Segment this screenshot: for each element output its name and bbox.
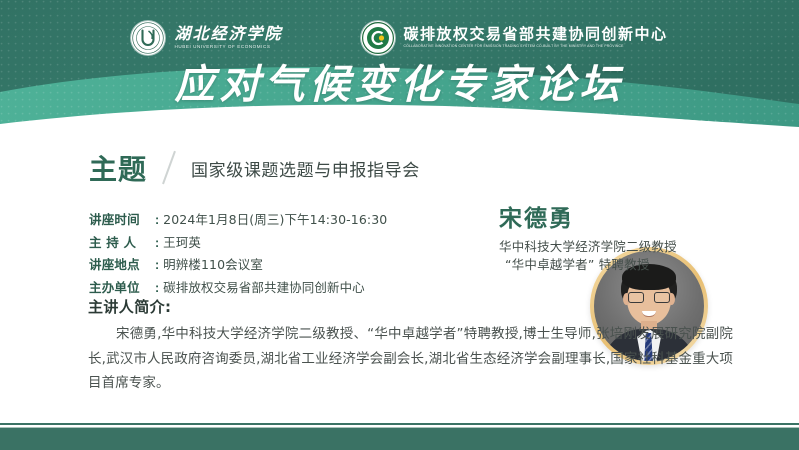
info-colon: : (155, 213, 159, 227)
info-key-time: 讲座时间 (89, 209, 155, 228)
footer-divider (0, 423, 799, 425)
poster-footer-bar (0, 428, 799, 450)
hue-logo-text: 湖北经济学院 HUBEI UNIVERSITY OF ECONOMICS (174, 26, 282, 50)
poster-body: 主题 国家级课题选题与申报指导会 讲座时间 : 2024年1月8日(周三)下午1… (0, 132, 799, 422)
cetc-logo-text: 碳排放权交易省部共建协同创新中心 COLLABORATIVE INNOVATIO… (404, 27, 668, 48)
info-row-venue: 讲座地点 : 明辨楼110会议室 (89, 254, 387, 273)
bio-text: 宋德勇,华中科技大学经济学院二级教授、“华中卓越学者”特聘教授,博士生导师,张培… (88, 322, 733, 396)
info-key-organizer: 主办单位 (89, 277, 155, 296)
info-value-venue: 明辨楼110会议室 (163, 254, 263, 273)
info-list: 讲座时间 : 2024年1月8日(周三)下午14:30-16:30 主 持 人 … (89, 209, 387, 299)
speaker-title-secondary: “华中卓越学者” 特聘教授 (505, 254, 650, 273)
cetc-logo-cn: 碳排放权交易省部共建协同创新中心 (404, 27, 668, 42)
info-value-time: 2024年1月8日(周三)下午14:30-16:30 (163, 209, 387, 228)
logo-hubei-university-of-economics: 湖北经济学院 HUBEI UNIVERSITY OF ECONOMICS (131, 21, 282, 55)
speaker-title-primary: 华中科技大学经济学院二级教授 (499, 236, 677, 255)
theme-value: 国家级课题选题与申报指导会 (191, 159, 420, 185)
portrait-glasses (628, 292, 670, 303)
poster-header: 湖北经济学院 HUBEI UNIVERSITY OF ECONOMICS 碳排放… (0, 0, 799, 132)
theme-divider (157, 151, 185, 185)
hue-logo-en: HUBEI UNIVERSITY OF ECONOMICS (174, 45, 282, 50)
hue-seal-icon (131, 21, 165, 55)
speaker-name: 宋德勇 (499, 206, 574, 232)
hue-logo-cn: 湖北经济学院 (174, 26, 282, 42)
info-key-host: 主 持 人 (89, 232, 155, 251)
cetc-logo-en: COLLABORATIVE INNOVATION CENTER FOR EMIS… (404, 45, 668, 48)
info-colon: : (155, 236, 159, 250)
seminar-poster: 湖北经济学院 HUBEI UNIVERSITY OF ECONOMICS 碳排放… (0, 0, 799, 450)
poster-main-title: 应对气候变化专家论坛 (0, 63, 799, 107)
bio-heading: 主讲人简介: (88, 296, 171, 317)
info-row-time: 讲座时间 : 2024年1月8日(周三)下午14:30-16:30 (89, 209, 387, 228)
logo-carbon-emission-trading-center: 碳排放权交易省部共建协同创新中心 COLLABORATIVE INNOVATIO… (361, 21, 668, 55)
info-value-host: 王珂英 (163, 232, 201, 251)
info-colon: : (155, 281, 159, 295)
info-colon: : (155, 258, 159, 272)
cetc-seal-icon (361, 21, 395, 55)
info-value-organizer: 碳排放权交易省部共建协同创新中心 (163, 277, 365, 296)
info-row-organizer: 主办单位 : 碳排放权交易省部共建协同创新中心 (89, 277, 387, 296)
theme-label: 主题 (89, 155, 147, 185)
info-row-host: 主 持 人 : 王珂英 (89, 232, 387, 251)
logo-row: 湖北经济学院 HUBEI UNIVERSITY OF ECONOMICS 碳排放… (0, 16, 799, 60)
info-key-venue: 讲座地点 (89, 254, 155, 273)
theme-row: 主题 国家级课题选题与申报指导会 (89, 149, 420, 185)
